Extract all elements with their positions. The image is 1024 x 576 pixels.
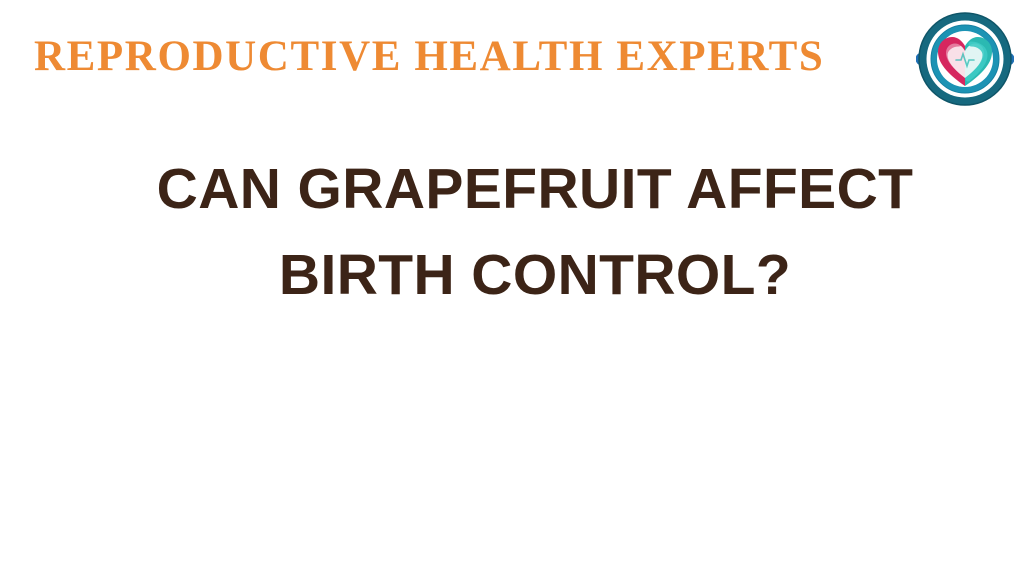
page-title: CAN GRAPEFRUIT AFFECT BIRTH CONTROL? xyxy=(0,146,1024,318)
brand-logo xyxy=(916,10,1014,108)
brand-wordmark: REPRODUCTIVE HEALTH EXPERTS xyxy=(34,34,824,80)
page-root: REPRODUCTIVE HEALTH EXPERTS xyxy=(0,0,1024,576)
page-title-line-2: BIRTH CONTROL? xyxy=(0,232,1024,318)
heart-in-circle-logo-icon xyxy=(916,10,1014,108)
page-title-line-1: CAN GRAPEFRUIT AFFECT xyxy=(0,146,1024,232)
site-header: REPRODUCTIVE HEALTH EXPERTS xyxy=(0,0,1024,120)
content-canvas xyxy=(0,320,1024,576)
